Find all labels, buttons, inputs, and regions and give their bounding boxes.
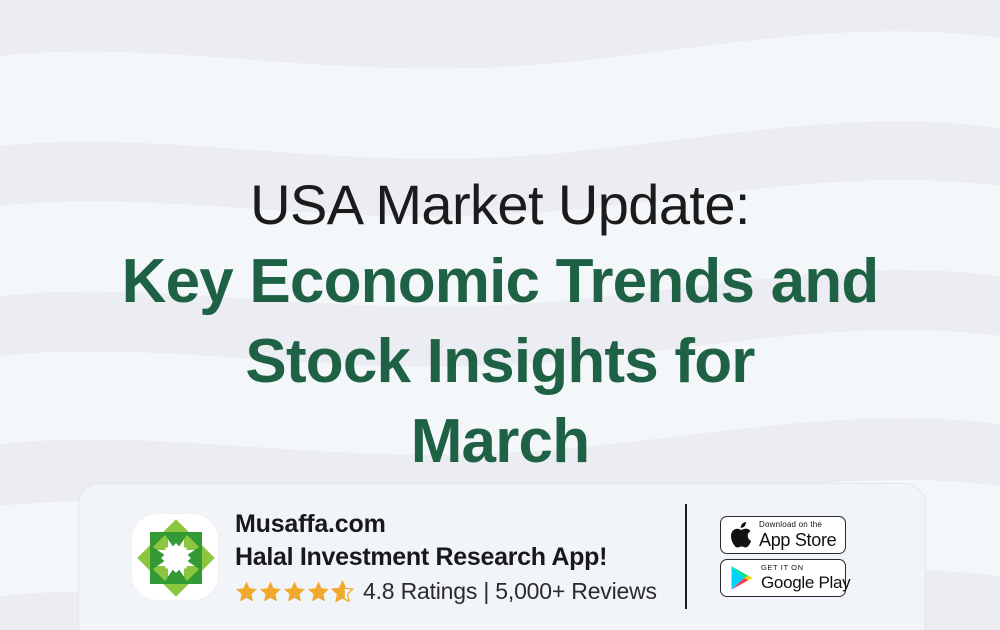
brand-tagline: Halal Investment Research App! bbox=[235, 541, 740, 574]
star-icon-half bbox=[331, 580, 354, 603]
headline-line-1: USA Market Update: bbox=[0, 168, 1000, 242]
app-store-badge-big: App Store bbox=[759, 530, 836, 550]
app-store-badge-small: Download on the bbox=[759, 520, 836, 530]
star-rating bbox=[235, 580, 354, 603]
brand-name: Musaffa.com bbox=[235, 508, 740, 541]
google-play-badge-big: Google Play bbox=[761, 573, 850, 593]
apple-logo-icon bbox=[730, 522, 752, 548]
rating-row: 4.8 Ratings | 5,000+ Reviews bbox=[235, 576, 740, 606]
store-badges: Download on the App Store GET IT ON Goog… bbox=[720, 516, 846, 597]
headline-line-3: Stock Insights for bbox=[0, 322, 1000, 402]
card-divider bbox=[685, 504, 687, 609]
slide-canvas: USA Market Update: Key Economic Trends a… bbox=[0, 0, 1000, 630]
star-icon bbox=[307, 580, 330, 603]
google-play-triangle-icon bbox=[730, 565, 754, 591]
google-play-badge-text: GET IT ON Google Play bbox=[761, 563, 850, 593]
app-logo-tile bbox=[131, 513, 219, 601]
headline-block: USA Market Update: Key Economic Trends a… bbox=[0, 168, 1000, 482]
google-play-badge[interactable]: GET IT ON Google Play bbox=[720, 559, 846, 597]
app-store-badge[interactable]: Download on the App Store bbox=[720, 516, 846, 554]
app-store-badge-text: Download on the App Store bbox=[759, 520, 836, 550]
rating-text: 4.8 Ratings | 5,000+ Reviews bbox=[363, 576, 657, 606]
google-play-badge-small: GET IT ON bbox=[761, 563, 850, 573]
headline-line-2: Key Economic Trends and bbox=[0, 242, 1000, 322]
headline-line-4: March bbox=[0, 402, 1000, 482]
musaffa-rosette-logo bbox=[132, 514, 218, 601]
star-icon bbox=[235, 580, 258, 603]
promo-card: Musaffa.com Halal Investment Research Ap… bbox=[78, 483, 926, 630]
star-icon bbox=[283, 580, 306, 603]
promo-text-column: Musaffa.com Halal Investment Research Ap… bbox=[235, 508, 740, 606]
star-icon bbox=[259, 580, 282, 603]
